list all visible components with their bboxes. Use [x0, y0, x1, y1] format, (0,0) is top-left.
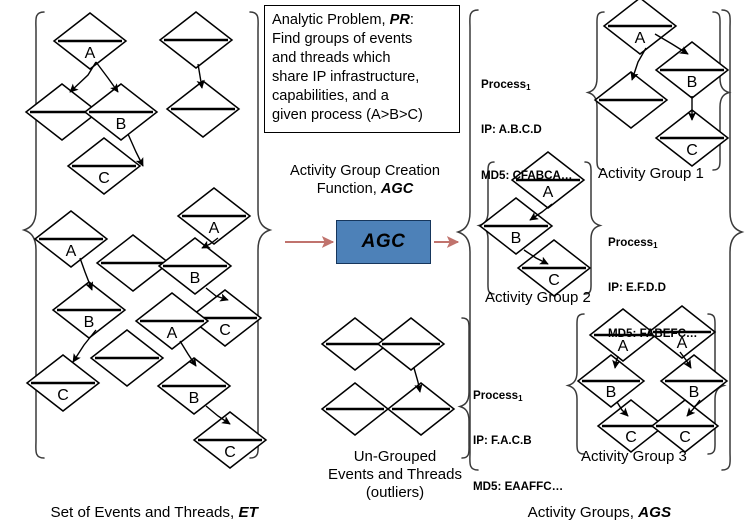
event-node	[322, 383, 388, 435]
activity-group-1-metadata: Process1 IP: A.B.C.D MD5: CFABCA…	[481, 47, 572, 198]
brace-ungrouped-right	[460, 318, 469, 458]
node-label-b: B	[511, 230, 522, 247]
brace-ags-right	[722, 10, 742, 470]
ag3-ip: IP: F.A.C.B	[473, 433, 563, 448]
node-label-c: C	[98, 170, 110, 187]
agc-box-label: AGC	[362, 231, 406, 253]
node-label-b: B	[189, 390, 200, 407]
analytic-problem-line-1: Analytic Problem, PR:	[272, 11, 453, 30]
node-label-b: B	[606, 384, 617, 401]
node-label-c: C	[679, 429, 691, 446]
event-node	[160, 12, 232, 68]
node-label-a: A	[66, 243, 77, 260]
node-label-c: C	[57, 387, 69, 404]
analytic-problem-line-4: share IP infrastructure,	[272, 68, 453, 87]
event-node	[595, 72, 667, 128]
agc-caption-line-2: Function, AGC	[258, 181, 472, 199]
node-label-c: C	[224, 444, 236, 461]
node-label-c: C	[548, 272, 560, 289]
brace-ag1-left	[588, 12, 604, 170]
node-label-a: A	[85, 45, 96, 62]
activity-groups-label: Activity Groups, AGS	[520, 487, 671, 521]
node-label-c: C	[625, 429, 637, 446]
ag2-ip: IP: E.F.D.D	[608, 280, 698, 295]
agc-function-caption: Activity Group Creation Function, AGC	[258, 163, 472, 199]
node-label-b: B	[84, 314, 95, 331]
node-label-c: C	[219, 322, 231, 339]
analytic-problem-line-3: and threads which	[272, 49, 453, 68]
ungrouped-caption: Un-Grouped Events and Threads (outliers)	[300, 448, 490, 502]
event-node	[97, 235, 169, 291]
ag1-md5: MD5: CFABCA…	[481, 168, 572, 183]
node-label-b: B	[687, 74, 698, 91]
ungrouped-line-3: (outliers)	[300, 484, 490, 502]
agc-process-box[interactable]: AGC	[336, 220, 431, 264]
set-of-events-and-threads-label: Set of Events and Threads, ET	[42, 487, 258, 521]
node-label-a: A	[167, 325, 178, 342]
event-node	[167, 81, 239, 137]
ag1-process: Process1	[481, 77, 572, 92]
analytic-problem-line-2: Find groups of events	[272, 30, 453, 49]
activity-group-3-label: Activity Group 3	[581, 448, 687, 465]
agc-caption-line-1: Activity Group Creation	[258, 163, 472, 181]
node-label-a: A	[635, 30, 646, 47]
event-node	[91, 330, 163, 386]
analytic-problem-line-5: capabilities, and a	[272, 87, 453, 106]
event-node	[388, 383, 454, 435]
ungrouped-line-1: Un-Grouped	[300, 448, 490, 466]
node-label-b: B	[190, 270, 201, 287]
activity-group-2-metadata: Process1 IP: E.F.D.D MD5: FABEFC…	[608, 205, 698, 356]
analytic-problem-line-6: given process (A>B>C)	[272, 106, 453, 125]
ungrouped-line-2: Events and Threads	[300, 466, 490, 484]
node-label-b: B	[689, 384, 700, 401]
activity-group-2-label: Activity Group 2	[485, 289, 591, 306]
event-node	[378, 318, 444, 370]
ag3-process: Process1	[473, 388, 563, 403]
analytic-problem-box: Analytic Problem, PR: Find groups of eve…	[264, 5, 460, 133]
node-label-b: B	[116, 116, 127, 133]
node-label-c: C	[686, 142, 698, 159]
node-label-a: A	[209, 220, 220, 237]
ag2-md5: MD5: FABEFC…	[608, 326, 698, 341]
ag1-ip: IP: A.B.C.D	[481, 122, 572, 137]
activity-group-1-label: Activity Group 1	[598, 165, 704, 182]
ag2-process: Process1	[608, 235, 698, 250]
